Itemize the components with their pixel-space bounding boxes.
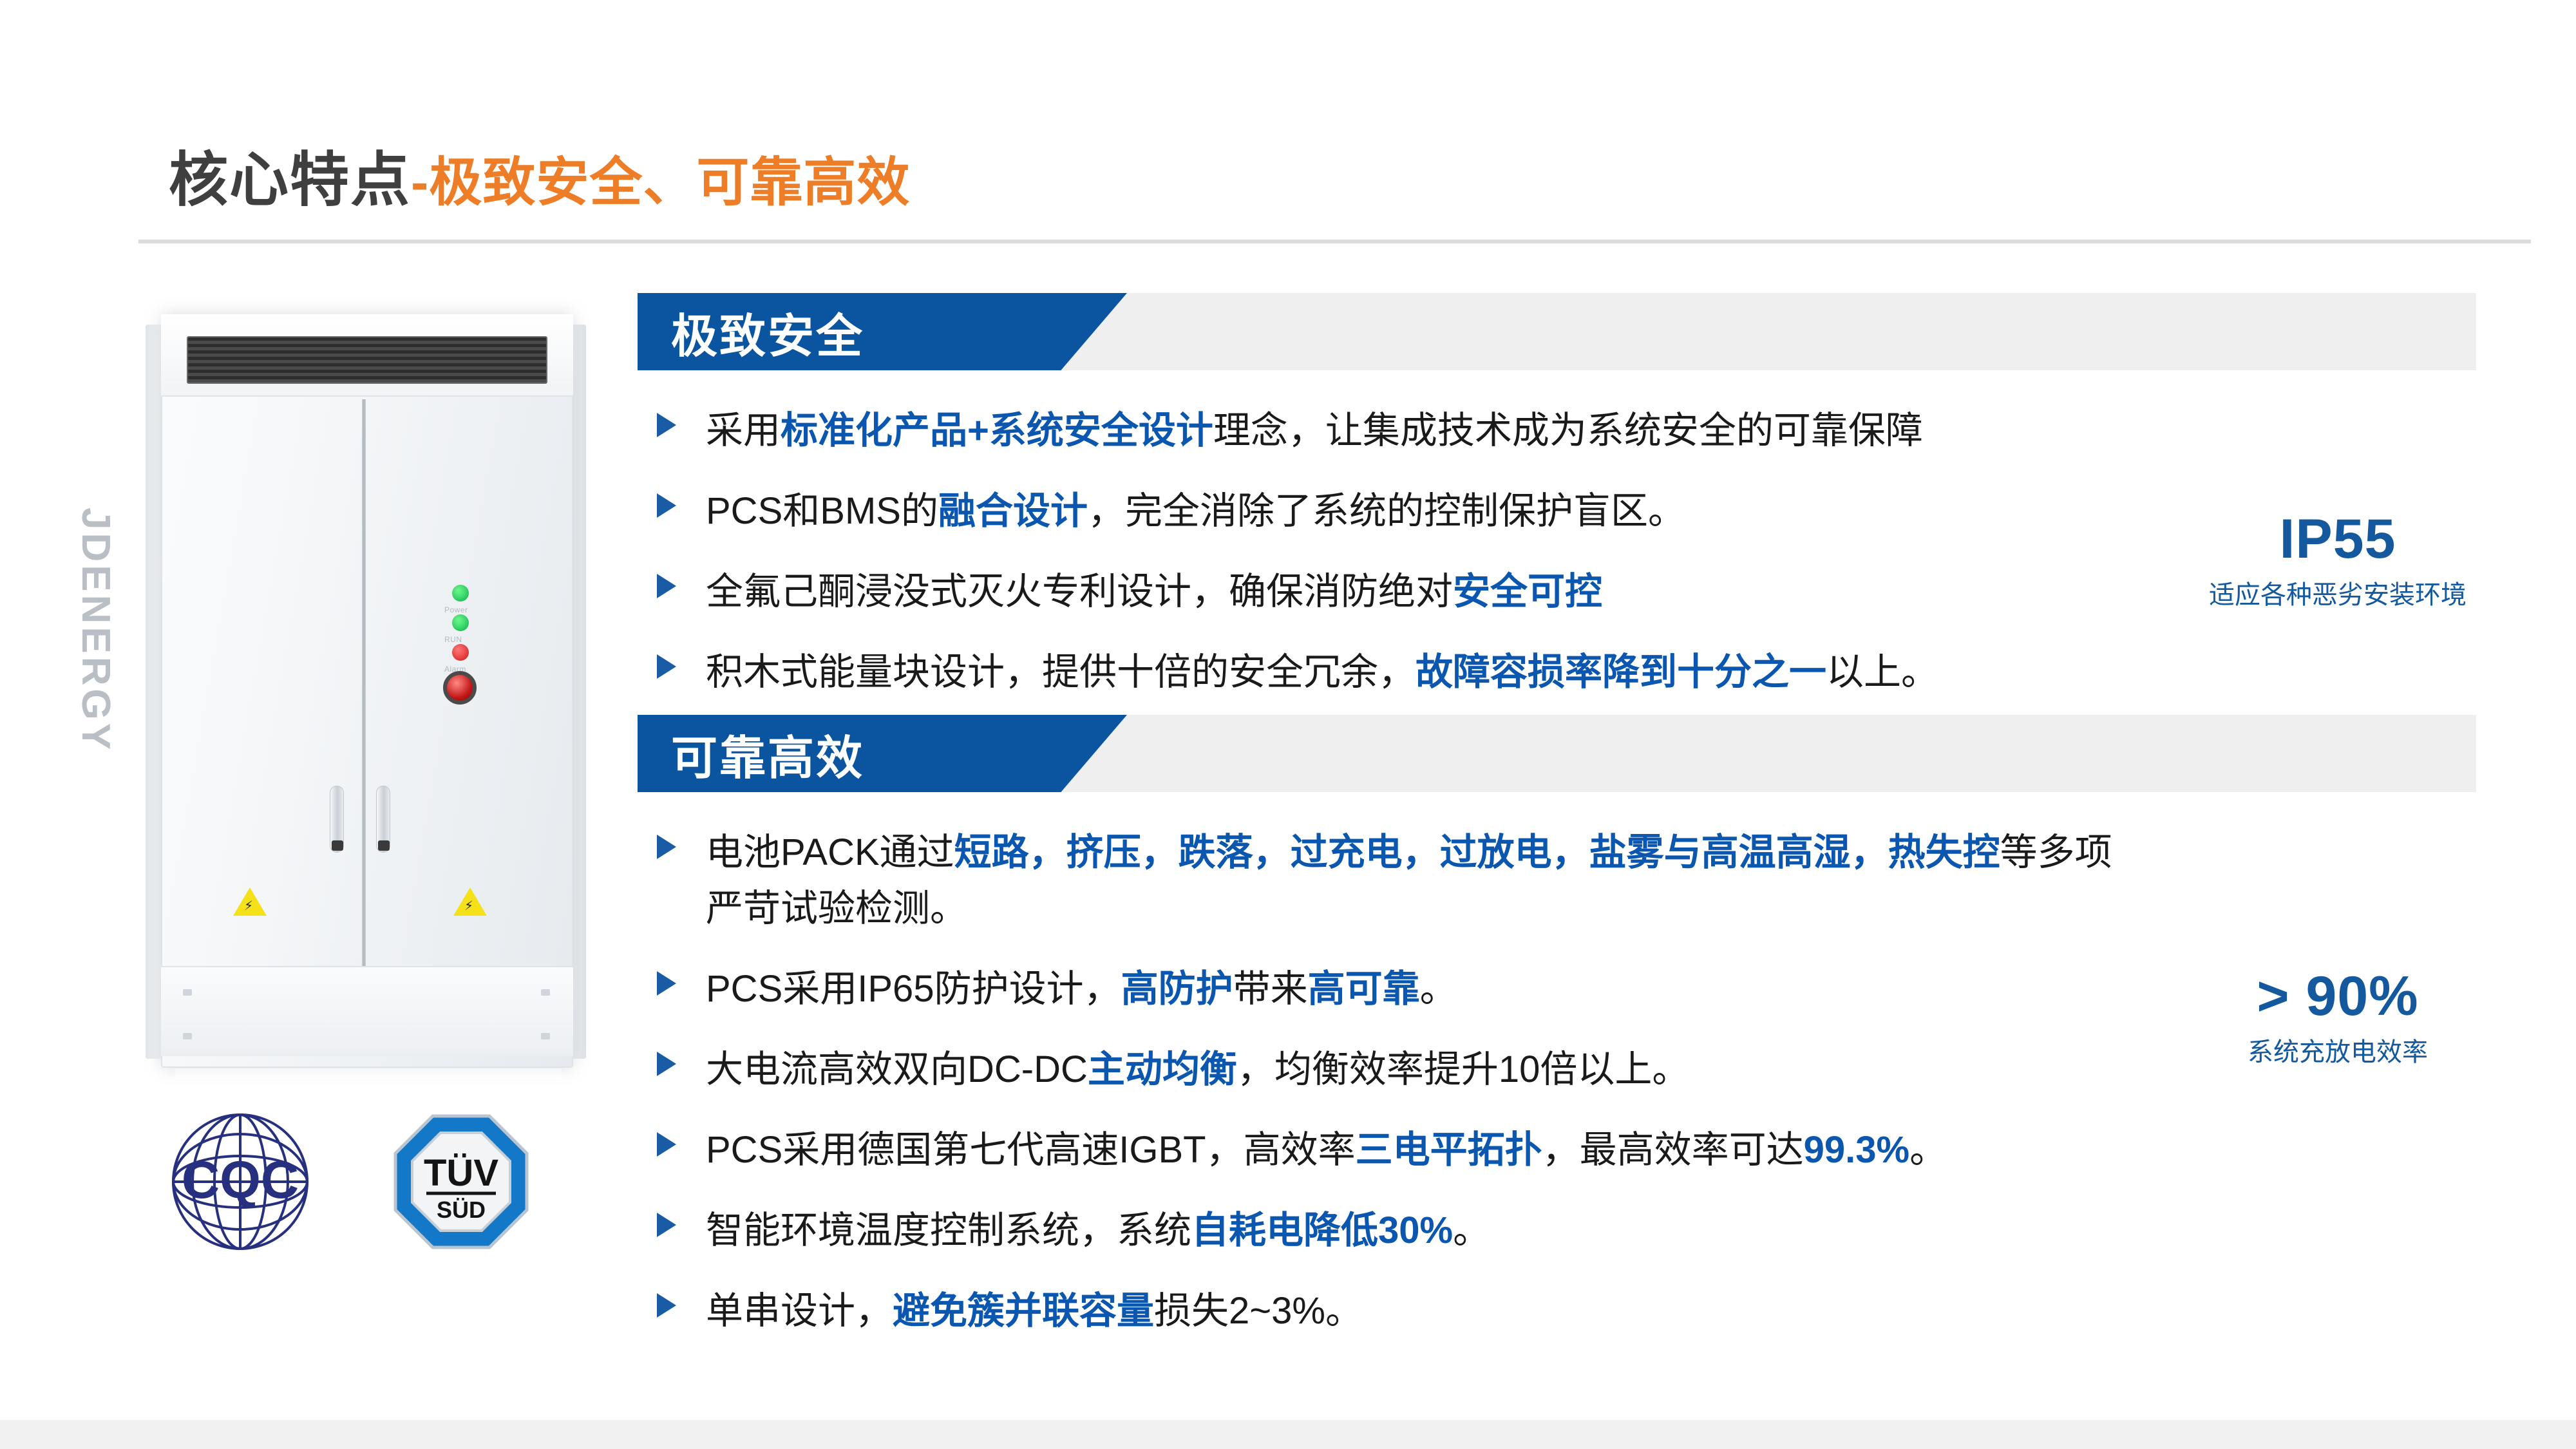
cabinet-vent-grille: [187, 336, 547, 384]
bullet-text: PCS采用IP65防护设计，高防护带来高可靠。: [706, 961, 1457, 1017]
section-banner-label-reliable: 可靠高效: [671, 720, 864, 788]
bullet-text: PCS采用德国第七代高速IGBT，高效率三电平拓扑，最高效率可达99.3%。: [706, 1122, 1947, 1178]
stat-callout-efficiency: > 90% 系统充放电效率: [2132, 966, 2544, 1068]
triangle-right-icon: [656, 1211, 683, 1238]
bullet-list-reliable: 电池PACK通过短路，挤压，跌落，过充电，过放电，盐雾与高温高湿，热失控等多项严…: [656, 824, 2130, 1363]
svg-text:SÜD: SÜD: [437, 1197, 486, 1223]
bullet-item: PCS采用IP65防护设计，高防护带来高可靠。: [656, 961, 2130, 1017]
triangle-right-icon: [656, 1050, 683, 1077]
cabinet-base: [175, 1068, 562, 1079]
triangle-right-icon: [656, 833, 683, 860]
high-voltage-warning-icon-right: [453, 887, 487, 916]
section-banner-tab-safety: 极致安全: [638, 293, 1127, 370]
emergency-stop-button-icon: [443, 671, 477, 705]
certification-logos: CQC TÜV SÜD: [147, 1109, 529, 1255]
bullet-list-safety: 采用标准化产品+系统安全设计理念，让集成技术成为系统安全的可靠保障PCS和BMS…: [656, 402, 2130, 724]
bullet-text: 单串设计，避免簇并联容量损失2~3%。: [706, 1283, 1363, 1339]
bullet-text: 积木式能量块设计，提供十倍的安全冗余，故障容损率降到十分之一以上。: [706, 644, 1938, 700]
bullet-item: 电池PACK通过短路，挤压，跌落，过充电，过放电，盐雾与高温高湿，热失控等多项严…: [656, 824, 2130, 936]
bullet-text: 智能环境温度控制系统，系统自耗电降低30%。: [706, 1202, 1490, 1258]
bullet-item: 单串设计，避免簇并联容量损失2~3%。: [656, 1283, 2130, 1339]
bullet-text: 采用标准化产品+系统安全设计理念，让集成技术成为系统安全的可靠保障: [706, 402, 1923, 459]
led-power-label: Power: [444, 605, 468, 614]
svg-text:TÜV: TÜV: [424, 1152, 498, 1194]
led-alarm-indicator: [452, 644, 469, 661]
page-title: 核心特点-极致安全、可靠高效: [169, 132, 910, 218]
section-banner-reliable: 可靠高效: [638, 715, 2476, 792]
stat-caption-ip-rating: 适应各种恶劣安装环境: [2132, 574, 2544, 611]
plinth-bolt: [183, 989, 192, 996]
cabinet-door-handle-right: [376, 786, 390, 853]
bullet-item: PCS采用德国第七代高速IGBT，高效率三电平拓扑，最高效率可达99.3%。: [656, 1122, 2130, 1178]
slide-root: 核心特点-极致安全、可靠高效 JDENERGY Power RUN Alarm: [0, 0, 2576, 1449]
bullet-text: 全氟己酮浸没式灭火专利设计，确保消防绝对安全可控: [706, 563, 1602, 620]
triangle-right-icon: [656, 492, 683, 519]
triangle-right-icon: [656, 1131, 683, 1158]
cabinet-body: [161, 314, 573, 1068]
bullet-text: 大电流高效双向DC-DC主动均衡，均衡效率提升10倍以上。: [706, 1041, 1689, 1097]
cabinet-door-handle-left: [330, 786, 344, 853]
footer-strip: [0, 1420, 2576, 1449]
triangle-right-icon: [656, 412, 683, 439]
triangle-right-icon: [656, 653, 683, 680]
product-cabinet-image: JDENERGY Power RUN Alarm: [137, 314, 598, 1081]
section-banner-tab-reliable: 可靠高效: [638, 715, 1127, 792]
bullet-item: 积木式能量块设计，提供十倍的安全冗余，故障容损率降到十分之一以上。: [656, 644, 2130, 700]
cabinet-brand-text: JDENERGY: [73, 507, 118, 720]
section-banner-safety: 极致安全: [638, 293, 2476, 370]
bullet-item: 智能环境温度控制系统，系统自耗电降低30%。: [656, 1202, 2130, 1258]
svg-text:CQC: CQC: [182, 1151, 299, 1209]
plinth-bolt: [541, 1033, 550, 1039]
cabinet-plinth: [161, 966, 573, 1056]
bullet-item: 大电流高效双向DC-DC主动均衡，均衡效率提升10倍以上。: [656, 1041, 2130, 1097]
triangle-right-icon: [656, 970, 683, 997]
stat-callout-ip-rating: IP55 适应各种恶劣安装环境: [2132, 509, 2544, 611]
title-divider: [138, 240, 2531, 243]
stat-value-efficiency: > 90%: [2132, 966, 2544, 1027]
stat-caption-efficiency: 系统充放电效率: [2132, 1031, 2544, 1068]
stat-value-ip-rating: IP55: [2132, 509, 2544, 570]
page-title-main: 核心特点: [169, 147, 411, 213]
bullet-text: PCS和BMS的融合设计，完全消除了系统的控制保护盲区。: [706, 483, 1685, 539]
plinth-bolt: [541, 989, 550, 996]
section-banner-label-safety: 极致安全: [671, 298, 864, 366]
plinth-bolt: [183, 1033, 192, 1039]
triangle-right-icon: [656, 1292, 683, 1319]
led-run-indicator: [452, 614, 469, 631]
led-power-indicator: [452, 585, 469, 601]
bullet-text: 电池PACK通过短路，挤压，跌落，过充电，过放电，盐雾与高温高湿，热失控等多项严…: [706, 824, 2130, 936]
bullet-item: PCS和BMS的融合设计，完全消除了系统的控制保护盲区。: [656, 483, 2130, 539]
page-title-sub: -极致安全、可靠高效: [411, 153, 910, 212]
cqc-logo-icon: CQC: [147, 1109, 334, 1255]
cabinet-door-split: [362, 399, 366, 966]
tuv-sud-logo-icon: TÜV SÜD: [393, 1113, 529, 1250]
triangle-right-icon: [656, 573, 683, 600]
bullet-item: 全氟己酮浸没式灭火专利设计，确保消防绝对安全可控: [656, 563, 2130, 620]
high-voltage-warning-icon-left: [233, 887, 267, 916]
led-run-label: RUN: [444, 635, 462, 644]
bullet-item: 采用标准化产品+系统安全设计理念，让集成技术成为系统安全的可靠保障: [656, 402, 2130, 459]
